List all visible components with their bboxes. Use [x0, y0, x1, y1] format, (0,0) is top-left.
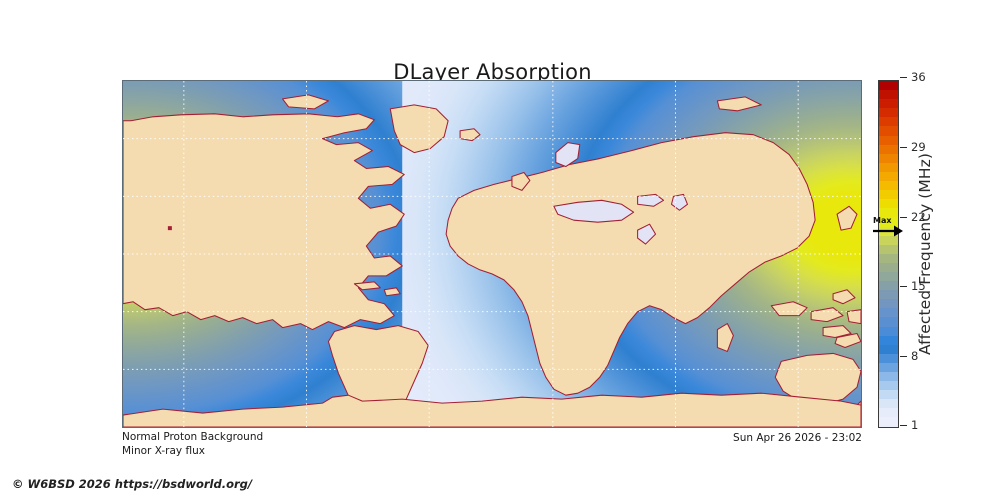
colorbar-band-37 [879, 417, 898, 426]
colorbar-band-7 [879, 145, 898, 154]
colorbar[interactable] [878, 80, 899, 428]
colorbar-band-19 [879, 254, 898, 263]
colorbar-band-6 [879, 136, 898, 145]
timestamp: Sun Apr 26 2026 - 23:02 [600, 432, 862, 444]
sulawesi-landmass [847, 310, 861, 324]
colorbar-band-8 [879, 154, 898, 163]
colorbar-band-27 [879, 327, 898, 336]
colorbar-band-24 [879, 299, 898, 308]
absorption-map[interactable] [122, 80, 862, 428]
proton-background-status: Normal Proton Background [122, 431, 263, 445]
colorbar-band-23 [879, 290, 898, 299]
colorbar-band-31 [879, 363, 898, 372]
colorbar-gradient [879, 81, 898, 427]
colorbar-band-22 [879, 281, 898, 290]
north-america-landmass [123, 114, 404, 330]
colorbar-band-35 [879, 399, 898, 408]
colorbar-band-1 [879, 90, 898, 99]
colorbar-band-34 [879, 390, 898, 399]
colorbar-band-0 [879, 81, 898, 90]
max-arrow-icon [872, 224, 906, 238]
colorbar-band-3 [879, 108, 898, 117]
colorbar-band-29 [879, 345, 898, 354]
max-annotation: Max [872, 216, 906, 240]
map-canvas [123, 81, 861, 427]
colorbar-band-36 [879, 408, 898, 417]
xray-flux-status: Minor X-ray flux [122, 445, 263, 459]
status-block: Normal Proton Background Minor X-ray flu… [122, 431, 263, 458]
colorbar-band-4 [879, 117, 898, 126]
colorbar-band-9 [879, 163, 898, 172]
footer-credit: © W6BSD 2026 https://bsdworld.org/ [12, 477, 252, 491]
colorbar-band-25 [879, 308, 898, 317]
colorbar-band-13 [879, 199, 898, 208]
colorbar-band-12 [879, 190, 898, 199]
station-marker[interactable] [168, 226, 172, 230]
colorbar-band-5 [879, 126, 898, 135]
colorbar-band-2 [879, 99, 898, 108]
colorbar-band-18 [879, 245, 898, 254]
colorbar-band-32 [879, 372, 898, 381]
colorbar-band-26 [879, 317, 898, 326]
colorbar-band-11 [879, 181, 898, 190]
colorbar-band-10 [879, 172, 898, 181]
colorbar-axis-label: Affected Frequency (MHz) [916, 80, 938, 428]
colorbar-band-28 [879, 336, 898, 345]
colorbar-band-30 [879, 354, 898, 363]
colorbar-band-33 [879, 381, 898, 390]
colorbar-band-20 [879, 263, 898, 272]
colorbar-band-21 [879, 272, 898, 281]
